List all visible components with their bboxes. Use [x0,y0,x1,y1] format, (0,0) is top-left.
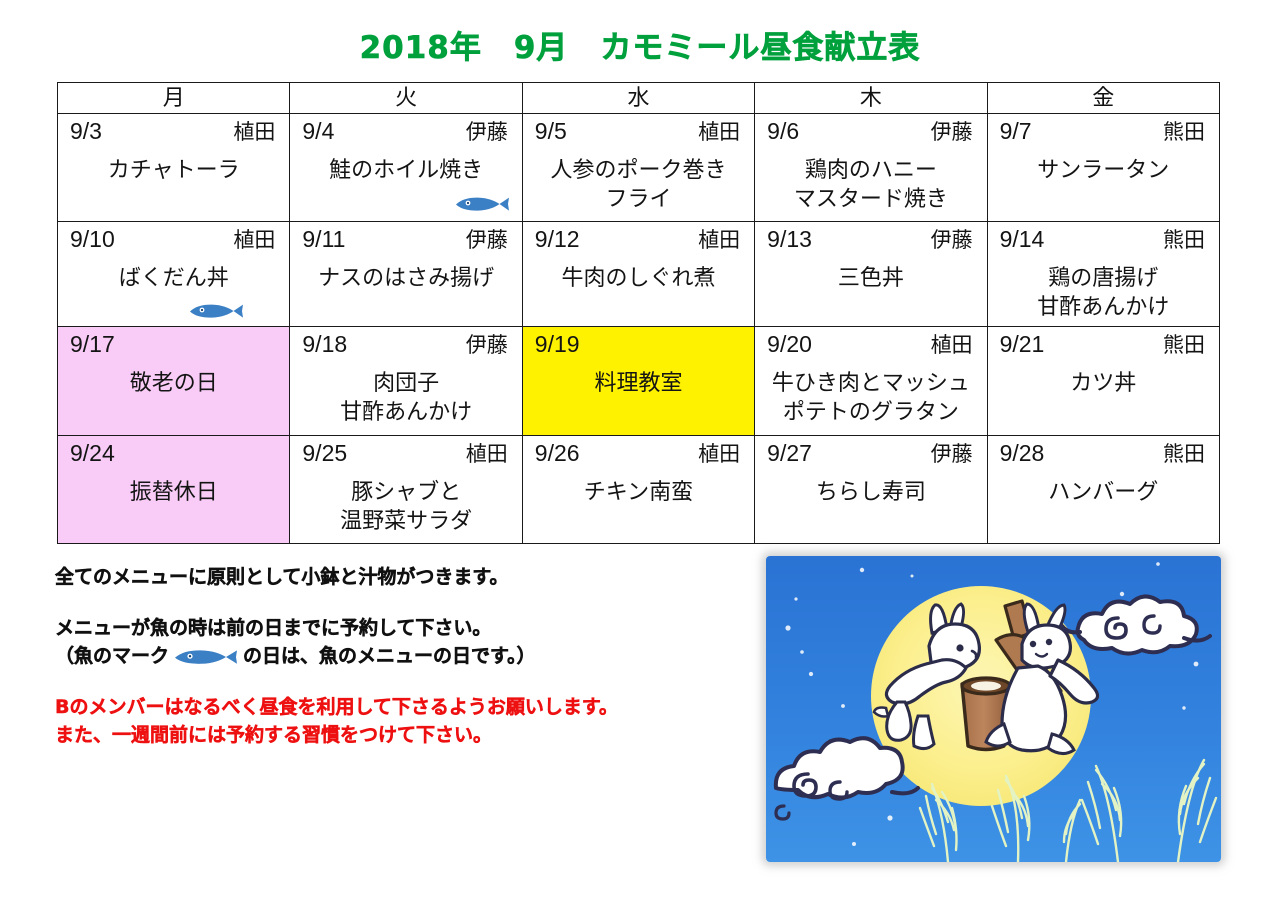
fish-icon [454,193,510,215]
day-date-label: 9/17 [70,330,115,359]
day-cell-header: 9/19 [531,330,746,359]
day-cell-content: 9/17敬老の日 [58,327,289,435]
calendar-day-cell[interactable]: 9/21熊田カツ丼 [987,327,1219,436]
day-cell-header: 9/18伊藤 [298,330,513,359]
day-date-label: 9/11 [302,225,345,254]
day-cell-content: 9/24振替休日 [58,436,289,543]
day-cell-header: 9/7熊田 [996,117,1211,146]
day-cell-content: 9/7熊田サンラータン [988,114,1219,221]
day-date-label: 9/4 [302,117,334,146]
day-date-label: 9/14 [1000,225,1045,254]
day-cell-content: 9/19料理教室 [523,327,754,435]
day-cook-label: 熊田 [1163,333,1205,359]
day-cell-content: 9/20植田牛ひき肉とマッシュ ポテトのグラタン [755,327,986,435]
fish-icon [188,300,244,322]
calendar-week-row: 9/3植田カチャトーラ9/4伊藤鮭のホイル焼き9/5植田人参のポーク巻き フライ… [58,114,1220,222]
day-cell-header: 9/27伊藤 [763,439,978,468]
day-cell-header: 9/14熊田 [996,225,1211,254]
calendar-day-cell[interactable]: 9/4伊藤鮭のホイル焼き [290,114,522,222]
day-date-label: 9/3 [70,117,102,146]
day-menu-text: ナスのはさみ揚げ [298,263,513,292]
weekday-header-mon: 月 [58,83,290,114]
day-menu-text: 三色丼 [763,263,978,292]
day-cook-label: 伊藤 [931,442,973,468]
day-cook-label: 植田 [931,333,973,359]
note-b-members-request: Bのメンバーはなるべく昼食を利用して下さるようお願いします。 [55,693,735,722]
calendar-day-cell[interactable]: 9/19料理教室 [522,327,754,436]
day-date-label: 9/26 [535,439,580,468]
day-cook-label: 伊藤 [931,228,973,254]
day-cell-content: 9/11伊藤ナスのはさみ揚げ [290,222,521,326]
day-cell-header: 9/25植田 [298,439,513,468]
notes-section: 全てのメニューに原則として小鉢と汁物がつきます。 メニューが魚の時は前の日までに… [55,563,735,750]
day-date-label: 9/6 [767,117,799,146]
note-all-menus: 全てのメニューに原則として小鉢と汁物がつきます。 [55,563,735,592]
day-date-label: 9/13 [767,225,812,254]
day-cell-content: 9/25植田豚シャブと 温野菜サラダ [290,436,521,543]
day-menu-text: 牛ひき肉とマッシュ ポテトのグラタン [763,368,978,426]
weekday-header-tue: 火 [290,83,522,114]
day-date-label: 9/27 [767,439,812,468]
day-cell-header: 9/26植田 [531,439,746,468]
day-cell-header: 9/6伊藤 [763,117,978,146]
weekday-header-wed: 水 [522,83,754,114]
day-cook-label: 植田 [233,228,275,254]
note-block-1: 全てのメニューに原則として小鉢と汁物がつきます。 [55,563,735,592]
day-menu-text: ハンバーグ [996,477,1211,506]
day-date-label: 9/24 [70,439,115,468]
day-cook-label: 熊田 [1163,120,1205,146]
fish-icon [173,646,239,668]
day-cell-header: 9/21熊田 [996,330,1211,359]
weekday-header-fri: 金 [987,83,1219,114]
weekday-header-thu: 木 [755,83,987,114]
day-cell-content: 9/5植田人参のポーク巻き フライ [523,114,754,221]
day-date-label: 9/10 [70,225,115,254]
day-menu-text: カツ丼 [996,368,1211,397]
tsukimi-rabbit-illustration [766,556,1221,862]
day-cell-content: 9/21熊田カツ丼 [988,327,1219,435]
calendar-day-cell[interactable]: 9/24振替休日 [58,436,290,544]
day-cell-content: 9/13伊藤三色丼 [755,222,986,326]
day-cell-content: 9/12植田牛肉のしぐれ煮 [523,222,754,326]
day-date-label: 9/20 [767,330,812,359]
day-cook-label: 伊藤 [466,120,508,146]
day-cell-content: 9/10植田ばくだん丼 [58,222,289,326]
day-cook-label: 植田 [698,442,740,468]
calendar-week-row: 9/17敬老の日9/18伊藤肉団子 甘酢あんかけ9/19料理教室9/20植田牛ひ… [58,327,1220,436]
page-title: 2018年 9月 カモミール昼食献立表 [0,22,1280,67]
day-menu-text: カチャトーラ [66,155,281,184]
day-date-label: 9/18 [302,330,347,359]
day-cook-label: 植田 [466,442,508,468]
day-cell-header: 9/17 [66,330,281,359]
day-cook-label: 植田 [698,228,740,254]
note-fish-reservation: メニューが魚の時は前の日までに予約して下さい。 [55,614,735,643]
day-cell-content: 9/6伊藤鶏肉のハニー マスタード焼き [755,114,986,221]
day-cook-label: 伊藤 [931,120,973,146]
day-menu-text: ちらし寿司 [763,477,978,506]
day-menu-text: 人参のポーク巻き フライ [531,155,746,213]
note-fish-mark-prefix: （魚のマーク [55,645,169,667]
day-cell-header: 9/28熊田 [996,439,1211,468]
day-date-label: 9/21 [1000,330,1045,359]
note-block-2: メニューが魚の時は前の日までに予約して下さい。 （魚のマークの日は、魚のメニュー… [55,614,735,671]
calendar-day-cell[interactable]: 9/11伊藤ナスのはさみ揚げ [290,222,522,327]
day-cell-header: 9/20植田 [763,330,978,359]
calendar-day-cell[interactable]: 9/28熊田ハンバーグ [987,436,1219,544]
calendar-day-cell[interactable]: 9/18伊藤肉団子 甘酢あんかけ [290,327,522,436]
day-cook-label: 伊藤 [466,333,508,359]
calendar-day-cell[interactable]: 9/20植田牛ひき肉とマッシュ ポテトのグラタン [755,327,987,436]
day-cell-header: 9/4伊藤 [298,117,513,146]
day-menu-text: 鶏肉のハニー マスタード焼き [763,155,978,213]
day-cell-header: 9/12植田 [531,225,746,254]
calendar-day-cell[interactable]: 9/26植田チキン南蛮 [522,436,754,544]
day-cell-content: 9/4伊藤鮭のホイル焼き [290,114,521,221]
calendar-day-cell[interactable]: 9/6伊藤鶏肉のハニー マスタード焼き [755,114,987,222]
note-fish-mark-suffix: の日は、魚のメニューの日です。） [243,645,536,667]
day-cell-header: 9/5植田 [531,117,746,146]
day-menu-text: 料理教室 [531,368,746,397]
calendar-day-cell[interactable]: 9/10植田ばくだん丼 [58,222,290,327]
day-date-label: 9/5 [535,117,567,146]
day-cell-header: 9/11伊藤 [298,225,513,254]
day-date-label: 9/12 [535,225,580,254]
calendar-header-row: 月 火 水 木 金 [58,83,1220,114]
note-fish-mark-legend: （魚のマークの日は、魚のメニューの日です。） [55,642,735,671]
day-menu-text: 鶏の唐揚げ 甘酢あんかけ [996,263,1211,321]
day-cell-header: 9/24 [66,439,281,468]
day-date-label: 9/7 [1000,117,1032,146]
day-menu-text: ばくだん丼 [66,263,281,292]
day-date-label: 9/25 [302,439,347,468]
calendar-week-row: 9/24振替休日9/25植田豚シャブと 温野菜サラダ9/26植田チキン南蛮9/2… [58,436,1220,544]
day-cell-header: 9/10植田 [66,225,281,254]
day-cook-label: 熊田 [1163,228,1205,254]
day-date-label: 9/28 [1000,439,1045,468]
day-cell-header: 9/3植田 [66,117,281,146]
calendar-day-cell[interactable]: 9/12植田牛肉のしぐれ煮 [522,222,754,327]
calendar-week-row: 9/10植田ばくだん丼9/11伊藤ナスのはさみ揚げ9/12植田牛肉のしぐれ煮9/… [58,222,1220,327]
calendar-day-cell[interactable]: 9/17敬老の日 [58,327,290,436]
day-cook-label: 植田 [698,120,740,146]
note-advance-reservation: また、一週間前には予約する習慣をつけて下さい。 [55,721,735,750]
day-menu-text: 振替休日 [66,477,281,506]
calendar-day-cell[interactable]: 9/3植田カチャトーラ [58,114,290,222]
day-cook-label: 熊田 [1163,442,1205,468]
day-menu-text: 肉団子 甘酢あんかけ [298,368,513,426]
calendar-day-cell[interactable]: 9/25植田豚シャブと 温野菜サラダ [290,436,522,544]
calendar-day-cell[interactable]: 9/14熊田鶏の唐揚げ 甘酢あんかけ [987,222,1219,327]
calendar-day-cell[interactable]: 9/7熊田サンラータン [987,114,1219,222]
day-cell-header: 9/13伊藤 [763,225,978,254]
day-cook-label: 植田 [233,120,275,146]
calendar-day-cell[interactable]: 9/27伊藤ちらし寿司 [755,436,987,544]
calendar-day-cell[interactable]: 9/5植田人参のポーク巻き フライ [522,114,754,222]
calendar-day-cell[interactable]: 9/13伊藤三色丼 [755,222,987,327]
day-cell-content: 9/18伊藤肉団子 甘酢あんかけ [290,327,521,435]
day-cell-content: 9/26植田チキン南蛮 [523,436,754,543]
day-menu-text: 豚シャブと 温野菜サラダ [298,477,513,535]
illustration-canvas [766,556,1221,862]
day-menu-text: サンラータン [996,155,1211,184]
note-block-3: Bのメンバーはなるべく昼食を利用して下さるようお願いします。 また、一週間前には… [55,693,735,750]
day-cell-content: 9/14熊田鶏の唐揚げ 甘酢あんかけ [988,222,1219,326]
day-menu-text: 牛肉のしぐれ煮 [531,263,746,292]
day-cook-label: 伊藤 [466,228,508,254]
day-cell-content: 9/27伊藤ちらし寿司 [755,436,986,543]
day-menu-text: 鮭のホイル焼き [298,155,513,184]
day-date-label: 9/19 [535,330,580,359]
day-menu-text: チキン南蛮 [531,477,746,506]
day-cell-content: 9/28熊田ハンバーグ [988,436,1219,543]
menu-calendar-table: 月 火 水 木 金 9/3植田カチャトーラ9/4伊藤鮭のホイル焼き9/5植田人参… [57,82,1220,544]
day-cell-content: 9/3植田カチャトーラ [58,114,289,221]
day-menu-text: 敬老の日 [66,368,281,397]
